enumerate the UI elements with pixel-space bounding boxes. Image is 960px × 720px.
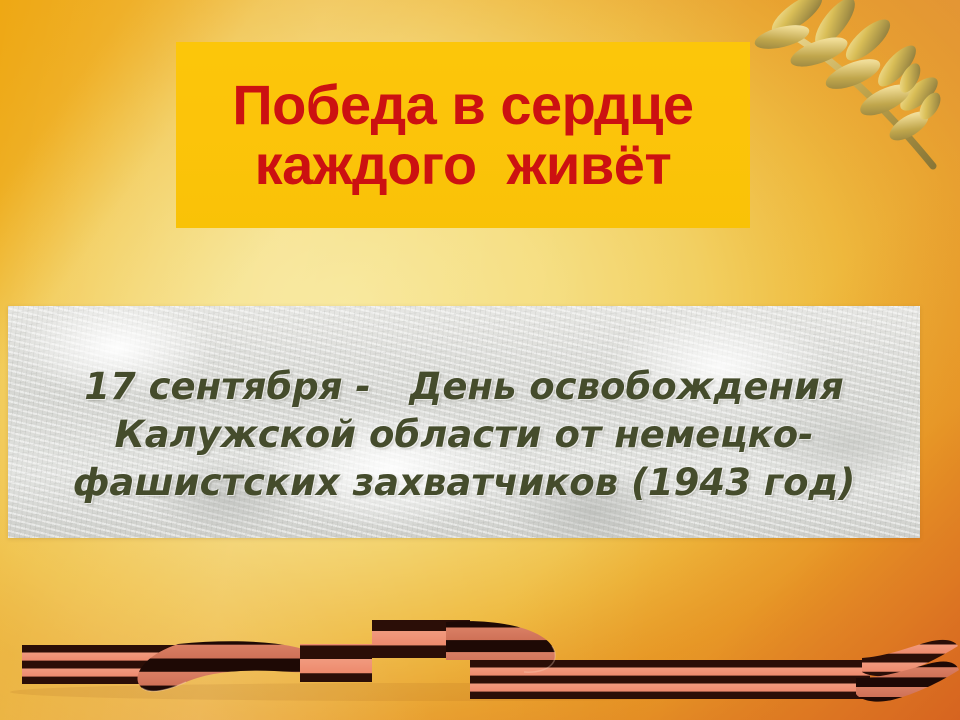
stone-banner: 17 сентября - День освобождения Калужско… — [8, 306, 920, 538]
title-card: Победа в сердце каждого живёт — [176, 42, 750, 228]
title-line-1: Победа в сердце — [232, 76, 693, 134]
title-line-2: каждого живёт — [255, 136, 672, 194]
banner-line-2: Калужской области от немецко- — [114, 411, 813, 459]
st-george-ribbon — [0, 612, 960, 720]
slide-canvas: Победа в сердце каждого живёт 17 сентябр… — [0, 0, 960, 720]
banner-line-3: фашистских захватчиков (1943 год) — [73, 459, 856, 507]
laurel-branch-icon — [737, 0, 957, 179]
banner-line-1: 17 сентября - День освобождения — [84, 363, 844, 411]
ribbon-segment-right — [470, 660, 874, 699]
